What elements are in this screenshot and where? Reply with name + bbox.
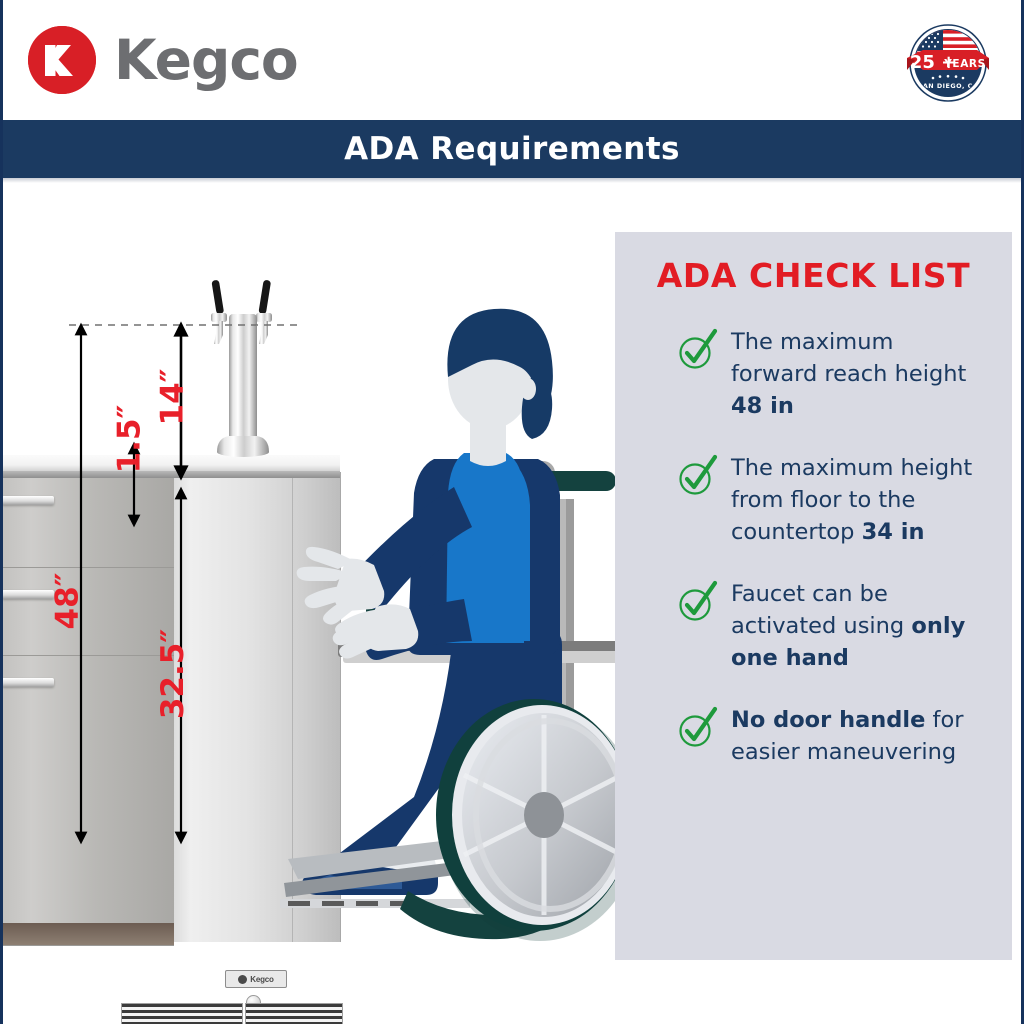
list-item: No door handle for easier maneuvering <box>675 704 1005 768</box>
svg-text:YEARS: YEARS <box>943 58 986 70</box>
check-circle-icon <box>675 454 719 498</box>
list-item: The maximum forward reach height 48 in <box>675 326 1005 422</box>
infographic-page: Kegco <box>0 0 1024 1024</box>
check-circle-icon <box>675 328 719 372</box>
list-item-emphasis: 48 in <box>731 393 794 419</box>
check-circle-icon <box>675 706 719 750</box>
ada-checklist-items: The maximum forward reach height 48 in T… <box>675 326 1005 798</box>
kegco-logo: Kegco <box>28 26 298 94</box>
kegerator-badge-label: Kegco <box>250 975 273 984</box>
kegerator-vent-left <box>121 1003 243 1024</box>
page-title-bar: ADA Requirements <box>3 120 1021 178</box>
list-item-text: No door handle for easier maneuvering <box>731 704 983 768</box>
illustration-scene: Kegco <box>3 183 1021 1021</box>
ada-checklist-panel: ADA CHECK LIST The maximum forward reach… <box>615 232 1012 960</box>
list-item-emphasis: No door handle <box>731 707 925 733</box>
anniversary-seal-icon: SAN DIEGO, CA 25 + YEARS <box>903 18 993 108</box>
kitchen-cabinet <box>0 472 174 942</box>
list-item-lead: The maximum forward reach height <box>731 329 966 387</box>
kegerator-vent-right <box>245 1003 343 1024</box>
list-item-text: Faucet can be activated using only one h… <box>731 578 983 674</box>
page-title: ADA Requirements <box>344 131 680 167</box>
list-item-text: The maximum height from floor to the cou… <box>731 452 983 548</box>
kegerator-brand-badge: Kegco <box>225 970 287 988</box>
check-circle-icon <box>675 580 719 624</box>
list-item-lead: Faucet can be activated using <box>731 581 911 639</box>
list-item-lead: The maximum height from floor to the cou… <box>731 455 972 545</box>
kegco-k-logo-icon <box>28 26 96 94</box>
list-item-emphasis: 34 in <box>862 519 925 545</box>
ada-checklist-title: ADA CHECK LIST <box>615 256 1012 295</box>
list-item: Faucet can be activated using only one h… <box>675 578 1005 674</box>
person-in-wheelchair-illustration <box>258 263 658 963</box>
dimension-label-14in: 14″ <box>155 369 191 426</box>
kegco-wordmark: Kegco <box>114 33 298 88</box>
kegco-mini-logo-icon <box>238 975 247 984</box>
list-item-text: The maximum forward reach height 48 in <box>731 326 983 422</box>
brand-bar: Kegco <box>3 0 1021 120</box>
cabinet-toe-kick <box>0 923 174 945</box>
list-item: The maximum height from floor to the cou… <box>675 452 1005 548</box>
